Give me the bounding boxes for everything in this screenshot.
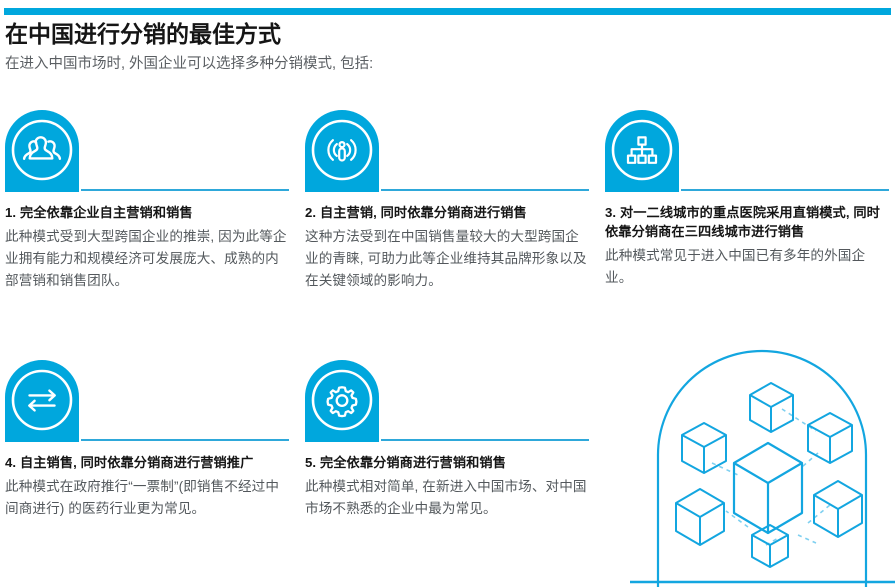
hierarchy-org-chart-icon [605,110,679,188]
top-accent-rule [4,8,891,15]
card-2-heading: 2. 自主营销, 同时依靠分销商进行销售 [305,203,589,222]
broadcast-signal-icon [305,110,379,188]
rule-line [681,189,889,191]
rule-stub [305,188,379,192]
rule-stub [305,438,379,442]
card-5-body: 此种模式相对简单, 在新进入中国市场、对中国市场不熟悉的企业中最为常见。 [305,476,589,520]
rule-stub [605,188,679,192]
card-1-rule [5,188,289,192]
connected-cubes-network-illustration [630,345,895,587]
rule-stub [5,188,79,192]
rule-line [81,189,289,191]
card-3-heading: 3. 对一二线城市的重点医院采用直销模式, 同时依靠分销商在三四线城市进行销售 [605,203,889,241]
rule-stub [5,438,79,442]
rule-line [381,189,589,191]
card-2-body: 这种方法受到在中国销售量较大的大型跨国企业的青睐, 可助力此等企业维持其品牌形象… [305,226,589,292]
rule-line [381,439,589,441]
card-2[interactable]: 2. 自主营销, 同时依靠分销商进行销售 这种方法受到在中国销售量较大的大型跨国… [305,110,589,292]
card-3-rule [605,188,889,192]
gear-cog-icon [305,360,379,438]
card-1[interactable]: 1. 完全依靠企业自主营销和销售 此种模式受到大型跨国企业的推崇, 因为此等企业… [5,110,289,292]
rule-line [81,439,289,441]
slide-page: 在中国进行分销的最佳方式 在进入中国市场时, 外国企业可以选择多种分销模式, 包… [0,0,895,587]
card-5[interactable]: 5. 完全依靠分销商进行营销和销售 此种模式相对简单, 在新进入中国市场、对中国… [305,360,589,520]
card-5-rule [305,438,589,442]
card-4[interactable]: 4. 自主销售, 同时依靠分销商进行营销推广 此种模式在政府推行“一票制”(即销… [5,360,289,520]
two-people-icon [5,110,79,188]
card-3[interactable]: 3. 对一二线城市的重点医院采用直销模式, 同时依靠分销商在三四线城市进行销售 … [605,110,889,289]
exchange-arrows-icon [5,360,79,438]
card-3-body: 此种模式常见于进入中国已有多年的外国企业。 [605,245,889,289]
card-4-rule [5,438,289,442]
card-1-heading: 1. 完全依靠企业自主营销和销售 [5,203,289,222]
page-subtitle: 在进入中国市场时, 外国企业可以选择多种分销模式, 包括: [5,56,373,73]
card-4-heading: 4. 自主销售, 同时依靠分销商进行营销推广 [5,453,289,472]
card-2-rule [305,188,589,192]
card-4-body: 此种模式在政府推行“一票制”(即销售不经过中间商进行) 的医药行业更为常见。 [5,476,289,520]
card-1-body: 此种模式受到大型跨国企业的推崇, 因为此等企业拥有能力和规模经济可发展庞大、成熟… [5,226,289,292]
card-5-heading: 5. 完全依靠分销商进行营销和销售 [305,453,589,472]
page-title: 在中国进行分销的最佳方式 [5,22,281,47]
